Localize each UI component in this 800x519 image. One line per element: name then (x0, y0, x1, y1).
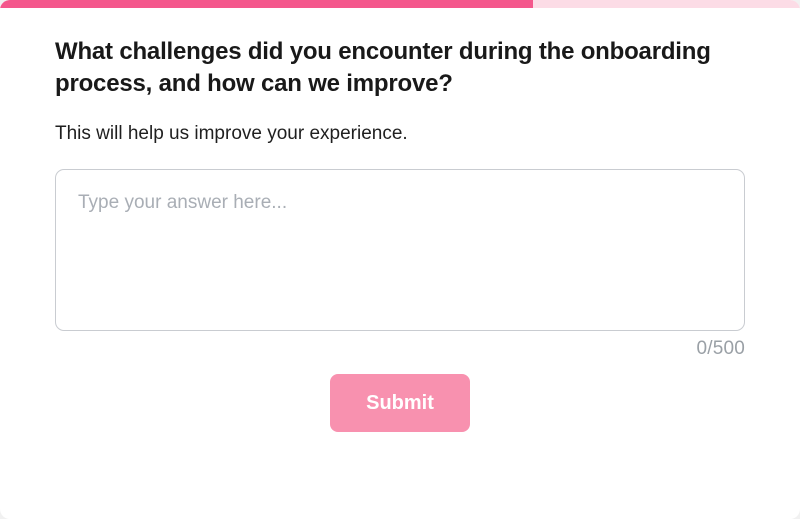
progress-bar-fill (0, 0, 533, 8)
answer-field-group: 0/500 (55, 169, 745, 360)
character-counter: 0/500 (55, 338, 745, 360)
answer-textarea[interactable] (55, 169, 745, 331)
progress-bar-track (0, 0, 800, 8)
question-subtitle: This will help us improve your experienc… (55, 122, 745, 147)
submit-row: Submit (55, 374, 745, 432)
survey-question-card: What challenges did you encounter during… (0, 0, 800, 519)
question-content: What challenges did you encounter during… (0, 8, 800, 519)
question-title: What challenges did you encounter during… (55, 36, 745, 100)
submit-button[interactable]: Submit (330, 374, 470, 432)
